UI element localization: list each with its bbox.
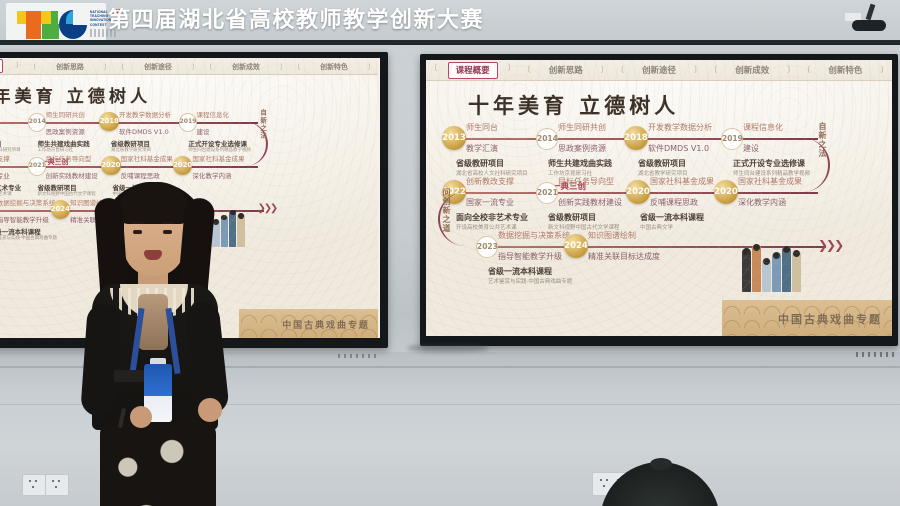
timeline-sub-primary-2019: 正式开设专业选修课 [188,138,247,148]
timeline-highlight-tag-2014: 一典三创 [41,156,69,166]
timeline-curve-right [238,122,268,166]
slide-headline: 十年美育 立德树人 [0,82,151,107]
camera-arm [866,4,876,21]
logo-shape-orange [26,11,41,39]
timeline-label-above-2023: 数据挖掘与决策系统 [498,230,570,241]
slide-tab-label: 创新途径 [144,63,172,71]
timeline-sub-primary-2022: 面向全校非艺术专业 [0,182,21,192]
slide-headline: 十年美育 立德树人 [468,90,679,120]
tab-bracket-left-icon: 〔 [523,64,531,75]
timeline-arrow-head: ❯❯❯ [258,203,277,214]
slide-tab-label: 课程概要 [448,62,498,79]
timeline-sub-secondary-2018: 湖北省教学研究项目 [638,169,688,177]
screen-ir-sensor-left [338,354,376,358]
timeline-label-above-2020: 国家社科基金成果 [121,153,173,163]
slide-tab-3[interactable]: 〔创新途径〕 [612,64,705,76]
timeline-label-below-2022: 国家一流专业 [0,170,10,180]
timeline-sub-secondary-2014: 工作坊京昆研习社 [548,169,592,177]
logo-shape-c-cut [73,10,88,25]
timeline-node-2020b: 2020 [714,180,738,204]
slide-tab-label: 创新特色 [320,63,348,71]
slide-tab-1[interactable]: 〔课程概要〕 [426,62,519,79]
timeline-highlight-tag-2014: 一典三创 [552,180,586,192]
timeline-sub-primary-2013: 省级教研项目 [0,138,2,148]
timeline-label-above-2022: 创新教改支撑 [0,153,10,163]
presenter-name-tag [114,370,144,382]
presenter-hand-left [130,406,152,428]
timeline-node-2020: 2020 [101,156,121,176]
timeline-curve-left [438,192,468,246]
tab-bracket-left-icon: 〔 [616,64,624,75]
timeline-sub-secondary-2018: 湖北省教学研究项目 [111,147,151,153]
timeline-sub-primary-2014: 师生共建戏曲实践 [37,138,89,148]
timeline-sub-secondary-2019: 师生同台建设系列精品教学视频 [188,147,251,153]
timeline-node-2019: 2019 [179,113,197,131]
slide-corner-tag: 中国古典戏曲专题 [282,318,370,331]
tab-bracket-right-icon: 〕 [880,64,888,75]
timeline-sub-primary-2020: 省级一流本科课程 [640,212,704,223]
timeline-node-2019: 2019 [721,128,743,150]
presenter [70,176,240,506]
timeline-label-below-2022: 国家一流专业 [466,197,514,208]
timeline-label-below-2024: 精准关联目标达成度 [588,251,660,262]
slide-tab-label: 创新特色 [828,66,862,76]
timeline-curve-right [794,138,830,192]
tab-bracket-left-icon: 〔 [294,61,301,71]
slide-tab-label: 创新思路 [549,66,583,76]
timeline-node-2020b: 2020 [173,156,193,176]
timeline-track-1 [454,138,818,140]
slide-tab-4[interactable]: 〔创新成效〕 [706,64,799,76]
timeline-label-above-2018: 开发教学数据分析 [648,122,712,133]
timeline-node-2021: 2021 [536,182,558,204]
timeline-sub-secondary-2022: 开设高校美育公共艺术课 [456,223,517,231]
tab-bracket-right-icon: 〕 [16,59,23,69]
banner-underline [0,40,900,45]
timeline-label-above-2019: 课程信息化 [743,122,783,133]
slide-tab-label: 课程概要 [0,59,3,73]
slide-tabbar: 〔课程概要〕〔创新思路〕〔创新途径〕〔创新成效〕〔创新特色〕 [0,58,378,75]
timeline-track-2 [0,166,258,168]
tab-bracket-left-icon: 〔 [709,64,717,75]
presenter-brow-right [162,222,174,224]
timeline-sub-secondary-2023: 艺术鉴赏与实践·中国古典戏曲专题 [488,277,572,285]
slide-tab-label: 创新成效 [735,66,769,76]
slide-tab-1[interactable]: 〔课程概要〕 [0,59,26,73]
slide-tab-2[interactable]: 〔创新思路〕 [519,64,612,76]
timeline-track-1 [0,122,258,124]
timeline-label-above-2021: 目标任务导向型 [558,176,614,187]
audience-member-hair-tuft [650,458,672,470]
timeline-label-above-2018: 开发教学数据分析 [119,109,171,119]
slide-tab-label: 创新途径 [642,66,676,76]
opera-figure-6 [792,250,801,292]
timeline-label-below-2014: 思政案例资源 [46,126,85,136]
logo-shape-green [42,24,59,39]
timeline-label-below-2020: 反哺课程思政 [650,197,698,208]
timeline-label-above-2022: 创新教改支撑 [466,176,514,187]
tab-bracket-right-icon: 〕 [694,64,702,75]
screen-stand-shadow [408,344,488,352]
opera-figure-2 [752,244,761,292]
timeline-label-above-2013: 师生同台 [466,122,498,133]
opera-figure-4 [772,252,781,292]
timeline-label-above-2020: 国家社科基金成果 [650,176,714,187]
logo-shape-i [51,11,58,24]
timeline-label-below-2023: 指导智能教学升级 [498,251,562,262]
timeline-sub-primary-2021: 省级教研项目 [548,212,596,223]
timeline-sub-primary-2019: 正式开设专业选修课 [733,158,805,169]
timeline-node-2020: 2020 [626,180,650,204]
opera-figures-illustration [742,242,801,292]
timeline-sub-secondary-2023: 艺术鉴赏与实践·中国古典戏曲专题 [0,235,57,241]
timeline-label-above-2019: 课程信息化 [196,109,229,119]
timeline-node-2022: 2022 [442,180,466,204]
display-screen-right[interactable]: 〔课程概要〕〔创新思路〕〔创新途径〕〔创新成效〕〔创新特色〕十年美育 立德树人2… [420,54,898,346]
timeline-sub-primary-2018: 省级教研项目 [111,138,150,148]
timeline-sub-secondary-2013: 湖北省高校人文社科研究项目 [456,169,528,177]
timeline-node-2024: 2024 [51,200,71,220]
slide-tabbar: 〔课程概要〕〔创新思路〕〔创新途径〕〔创新成效〕〔创新特色〕 [426,60,892,81]
tab-bracket-right-icon: 〕 [104,61,111,71]
timeline-sub-secondary-2022: 开设高校美育公共艺术课 [0,191,12,197]
slide-tab-label: 创新成效 [232,63,260,71]
slide-tab-4[interactable]: 〔创新成效〕 [202,61,290,71]
wall-outlet-left-a [22,474,46,496]
wall-outlet-left-b [45,474,69,496]
slide-corner-tag: 中国古典戏曲专题 [778,311,882,327]
timeline-label-below-2019: 建设 [743,143,759,154]
timeline-label-above-2014: 师生同研共创 [558,122,606,133]
presenter-brow-left [132,222,144,224]
timeline-label-above-2020b: 国家社科基金成果 [738,176,802,187]
timeline-label-above-2021: 目标任务导向型 [46,153,92,163]
slide-tab-3[interactable]: 〔创新途径〕 [114,61,202,71]
timeline-node-2014: 2014 [536,128,558,150]
tab-bracket-right-icon: 〕 [280,61,287,71]
event-banner: NATIONAL TEACHING INNOVATION CONTEST 第四届… [0,0,900,44]
opera-figure-1 [742,248,751,292]
timeline-node-2024: 2024 [564,234,588,258]
slide-tab-label: 创新思路 [56,63,84,71]
timeline-label-above-2024: 知识图谱绘制 [588,230,636,241]
tab-bracket-right-icon: 〕 [601,64,609,75]
timeline-label-below-2018: 软件DMDS V1.0 [648,143,709,154]
timeline-label-below-2014: 思政案例资源 [558,143,606,154]
tab-bracket-left-icon: 〔 [206,61,213,71]
timeline-node-2018: 2018 [624,126,648,150]
event-title: 第四届湖北省高校教师教学创新大赛 [108,6,484,36]
presenter-hand-right [198,398,222,422]
display-right-content: 〔课程概要〕〔创新思路〕〔创新途径〕〔创新成效〕〔创新特色〕十年美育 立德树人2… [426,60,892,336]
timeline-sub-primary-2023: 省级一流本科课程 [488,266,552,277]
timeline-node-2021: 2021 [28,157,46,175]
slide-wave-footer [722,300,892,336]
timeline-label-below-2013: 教学汇演 [466,143,498,154]
presenter-mouth [144,250,162,260]
tab-bracket-left-icon: 〔 [118,61,125,71]
timeline-vertical-text-right: 自新之法 [258,109,268,139]
timeline-arrow-head: ❯❯❯ [818,238,842,252]
video-frame: NATIONAL TEACHING INNOVATION CONTEST 第四届… [0,0,900,506]
timeline-label-below-2023: 指导智能教学升级 [0,214,49,224]
tab-bracket-left-icon: 〔 [30,61,37,71]
timeline-sub-secondary-2019: 师生同台建设系列精品教学视频 [733,169,810,177]
timeline-sub-secondary-2021: 新文科视野中国古代文学课程 [548,223,620,231]
tab-bracket-right-icon: 〕 [507,62,515,73]
opera-figure-5 [782,246,791,292]
presenter-skirt [100,420,216,506]
timeline-label-below-2021: 创新实践教材建设 [558,197,622,208]
timeline-sub-secondary-2014: 工作坊京昆研习社 [37,147,73,153]
timeline-node-2013: 2013 [442,126,466,150]
timeline-track-2 [454,192,818,194]
presenter-eye-left [133,230,142,234]
timeline-sub-primary-2022: 面向全校非艺术专业 [456,212,528,223]
timeline-sub-primary-2018: 省级教研项目 [638,158,686,169]
opera-figure-3 [762,258,771,292]
slide-right: 〔课程概要〕〔创新思路〕〔创新途径〕〔创新成效〕〔创新特色〕十年美育 立德树人2… [426,60,892,336]
timeline-label-above-2014: 师生同研共创 [46,109,85,119]
tab-bracket-right-icon: 〕 [787,64,795,75]
ceiling-camera-icon [852,20,886,31]
tab-bracket-left-icon: 〔 [803,64,811,75]
timeline-label-above-2020b: 国家社科基金成果 [192,153,244,163]
tab-bracket-right-icon: 〕 [368,61,375,71]
timeline-sub-primary-2013: 省级教研项目 [456,158,504,169]
timeline-sub-secondary-2013: 湖北省高校人文社科研究项目 [0,147,21,153]
tic-logo: NATIONAL TEACHING INNOVATION CONTEST [6,3,106,41]
slide-tab-2[interactable]: 〔创新思路〕 [26,61,114,71]
tab-bracket-right-icon: 〕 [192,61,199,71]
presenter-eye-right [163,230,172,234]
timeline-sub-secondary-2020: 中国古典文学 [640,223,673,231]
timeline-node-2018: 2018 [99,112,119,132]
timeline-label-above-2023: 数据挖掘与决策系统 [0,197,55,207]
tab-bracket-left-icon: 〔 [430,62,438,73]
timeline-sub-primary-2023: 省级一流本科课程 [0,226,41,236]
timeline-vertical-text-right: 自新之法 [818,122,829,158]
timeline-label-below-2018: 软件DMDS V1.0 [119,126,169,136]
timeline-node-2023: 2023 [476,236,498,258]
timeline-vertical-text-left: 问创新之道 [442,188,453,233]
slide-wave-footer [239,309,378,338]
slide-tab-5[interactable]: 〔创新特色〕 [799,64,892,76]
timeline-label-below-2019: 建设 [196,126,209,136]
timeline-track-3 [486,246,826,248]
timeline-node-2014: 2014 [28,113,46,131]
screen-ir-sensor-right [856,352,898,357]
slide-tab-5[interactable]: 〔创新特色〕 [290,61,378,71]
timeline-sub-primary-2014: 师生共建戏曲实践 [548,158,612,169]
timeline-label-below-2020b: 深化教学内涵 [738,197,786,208]
